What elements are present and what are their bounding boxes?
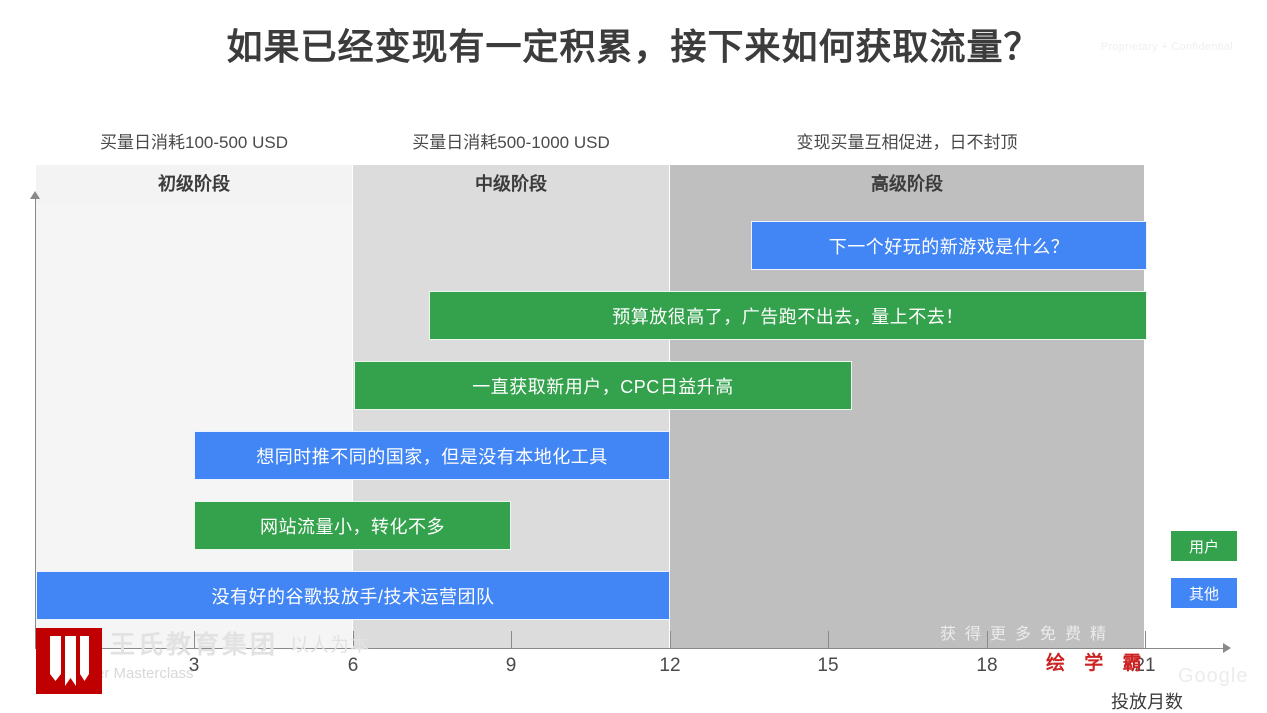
bar-item-4[interactable]: 网站流量小，转化不多 (194, 501, 511, 550)
bar-label-4: 网站流量小，转化不多 (260, 513, 445, 539)
bar-label-2: 一直获取新用户，CPC日益升高 (472, 373, 734, 399)
x-tick-0 (194, 631, 195, 648)
bar-item-1[interactable]: 预算放很高了，广告跑不出去，量上不去！ (429, 291, 1147, 340)
x-tick-label-6: 21 (1125, 655, 1165, 677)
bar-label-3: 想同时推不同的国家，但是没有本地化工具 (256, 443, 608, 469)
legend-item-others[interactable]: 其他 (1171, 578, 1237, 608)
bar-item-3[interactable]: 想同时推不同的国家，但是没有本地化工具 (194, 431, 670, 480)
bar-label-1: 预算放很高了，广告跑不出去，量上不去！ (612, 303, 964, 329)
x-tick-label-1: 6 (333, 655, 373, 677)
x-tick-label-5: 18 (967, 655, 1007, 677)
x-tick-label-4: 15 (808, 655, 848, 677)
stage-caption-2: 变现买量互相促进，日不封顶 (670, 128, 1144, 153)
slide-canvas: 如果已经变现有一定积累，接下来如何获取流量？ Proprietary + Con… (0, 0, 1267, 713)
stage-caption-1: 买量日消耗500-1000 USD (353, 128, 669, 153)
x-tick-2 (511, 631, 512, 648)
bar-item-0[interactable]: 下一个好玩的新游戏是什么？ (751, 221, 1147, 270)
bar-label-0: 下一个好玩的新游戏是什么？ (829, 233, 1070, 259)
stage-band-beginner-label: 初级阶段 (36, 165, 353, 203)
bar-item-5[interactable]: 没有好的谷歌投放手/技术运营团队 (36, 571, 670, 620)
x-tick-4 (828, 631, 829, 648)
x-axis-arrow (1223, 643, 1231, 653)
x-tick-1 (353, 631, 354, 648)
y-axis-arrow (30, 191, 40, 199)
wang-logo-icon (36, 628, 102, 694)
x-tick-label-2: 9 (491, 655, 531, 677)
legend-label-others: 其他 (1189, 583, 1219, 604)
x-tick-3 (670, 631, 671, 648)
bar-label-5: 没有好的谷歌投放手/技术运营团队 (212, 583, 495, 609)
legend-item-users[interactable]: 用户 (1171, 531, 1237, 561)
stage-band-advanced-label: 高级阶段 (670, 165, 1144, 203)
stage-caption-0: 买量日消耗100-500 USD (36, 128, 352, 153)
x-tick-5 (987, 631, 988, 648)
x-axis-title: 投放月数 (1111, 688, 1183, 713)
x-tick-label-3: 12 (650, 655, 690, 677)
confidentiality-notice: Proprietary + Confidential (1101, 41, 1233, 53)
page-title: 如果已经变现有一定积累，接下来如何获取流量？ (0, 18, 1267, 70)
stage-band-intermediate-label: 中级阶段 (353, 165, 670, 203)
watermark-google: Google (1178, 665, 1249, 688)
x-axis-line (35, 648, 1225, 649)
x-tick-label-0: 3 (174, 655, 214, 677)
legend-label-users: 用户 (1189, 536, 1219, 557)
bar-item-2[interactable]: 一直获取新用户，CPC日益升高 (354, 361, 852, 410)
x-tick-6 (1145, 631, 1146, 648)
